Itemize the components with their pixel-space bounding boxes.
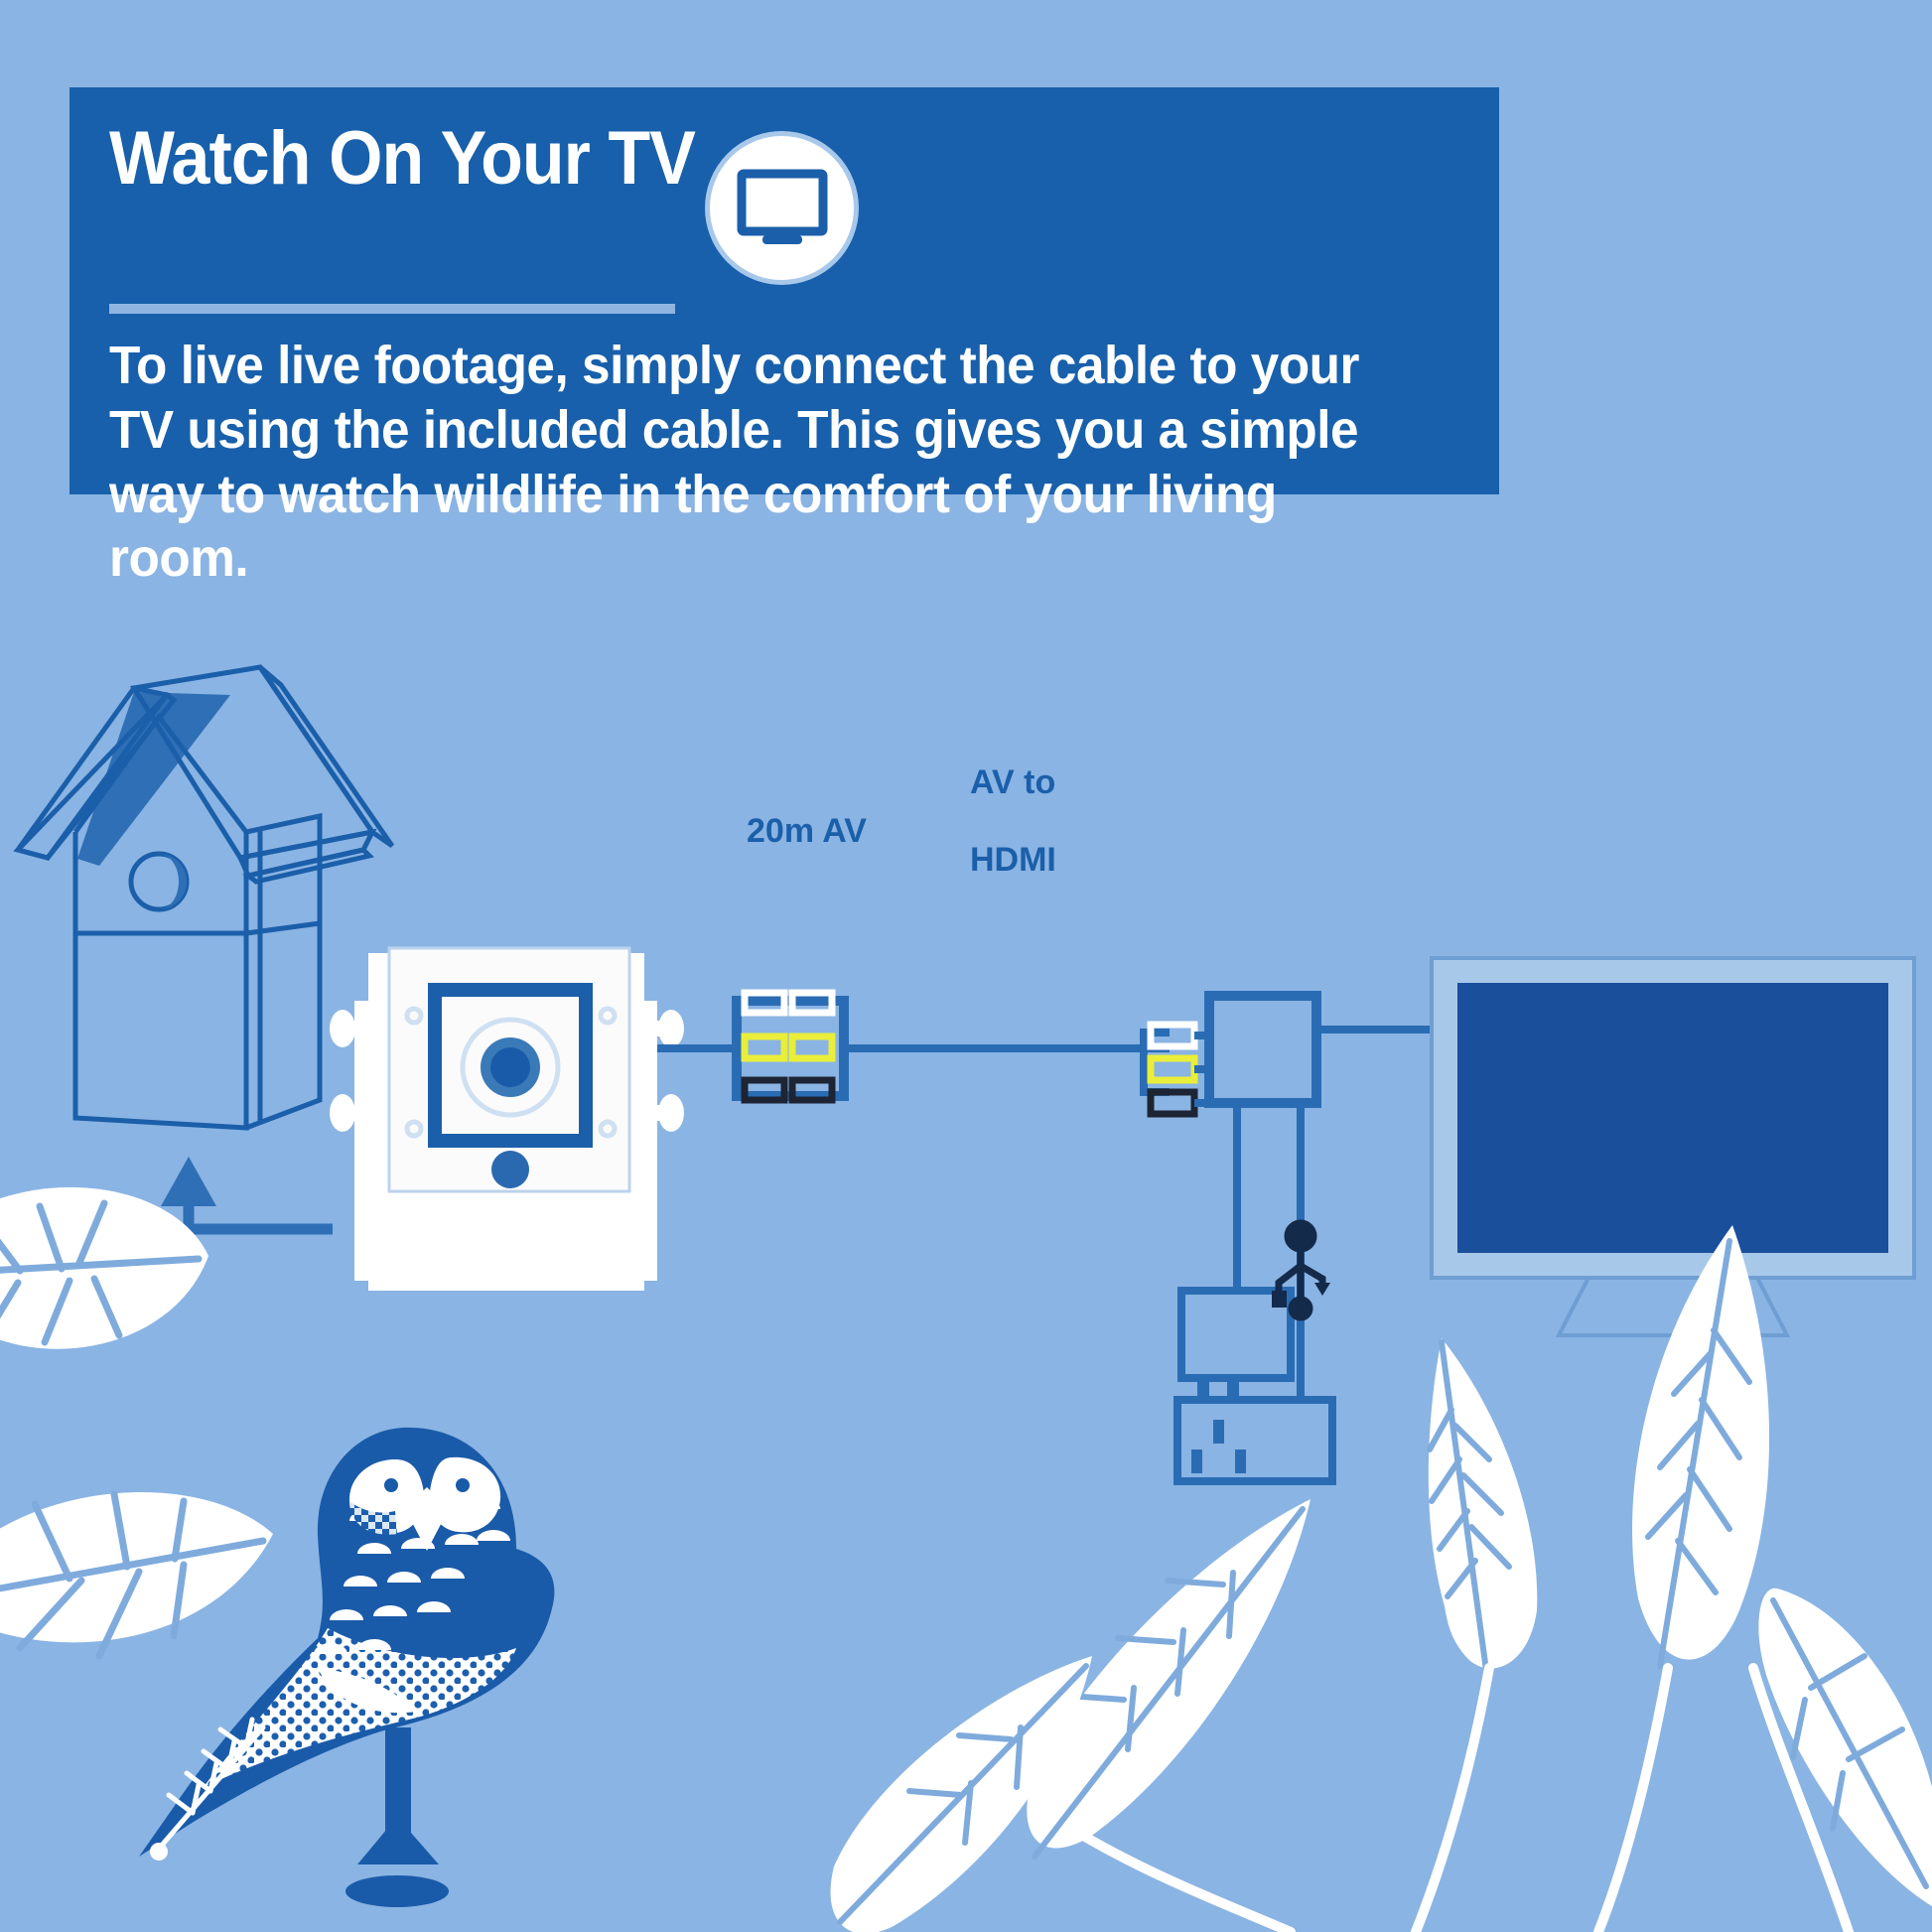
header-body-text: To live live footage, simply connect the… xyxy=(109,334,1402,591)
leaf-cluster-right xyxy=(831,1225,1932,1932)
tv-icon-glyph xyxy=(737,169,828,248)
header-title-row: Watch On Your TV xyxy=(109,121,1459,197)
camera-illustration xyxy=(330,948,684,1291)
page-title: Watch On Your TV xyxy=(109,121,695,197)
cable-length-label: 20m AV xyxy=(747,812,867,851)
leaf-cluster-left xyxy=(0,1187,273,1656)
tv-icon xyxy=(705,131,859,285)
rca-connector-camera-side xyxy=(737,993,844,1100)
infographic-canvas: Watch On Your TV To live live footage, s… xyxy=(0,0,1932,1932)
mains-socket xyxy=(1177,1400,1332,1481)
nest-box-illustration xyxy=(18,667,392,1128)
title-divider xyxy=(109,304,675,314)
header-card: Watch On Your TV To live live footage, s… xyxy=(69,87,1499,494)
rca-connector-converter-side xyxy=(1140,1025,1237,1152)
usb-plug-icon xyxy=(1272,1223,1330,1317)
av-to-hdmi-converter xyxy=(1209,996,1432,1103)
av-to-hdmi-label: AV to HDMI xyxy=(970,725,1056,918)
mounting-arrow-icon xyxy=(161,1157,333,1229)
television-illustration xyxy=(1432,958,1914,1335)
av-to-hdmi-label-line1: AV to xyxy=(970,763,1056,802)
av-to-hdmi-label-line2: HDMI xyxy=(970,841,1056,880)
